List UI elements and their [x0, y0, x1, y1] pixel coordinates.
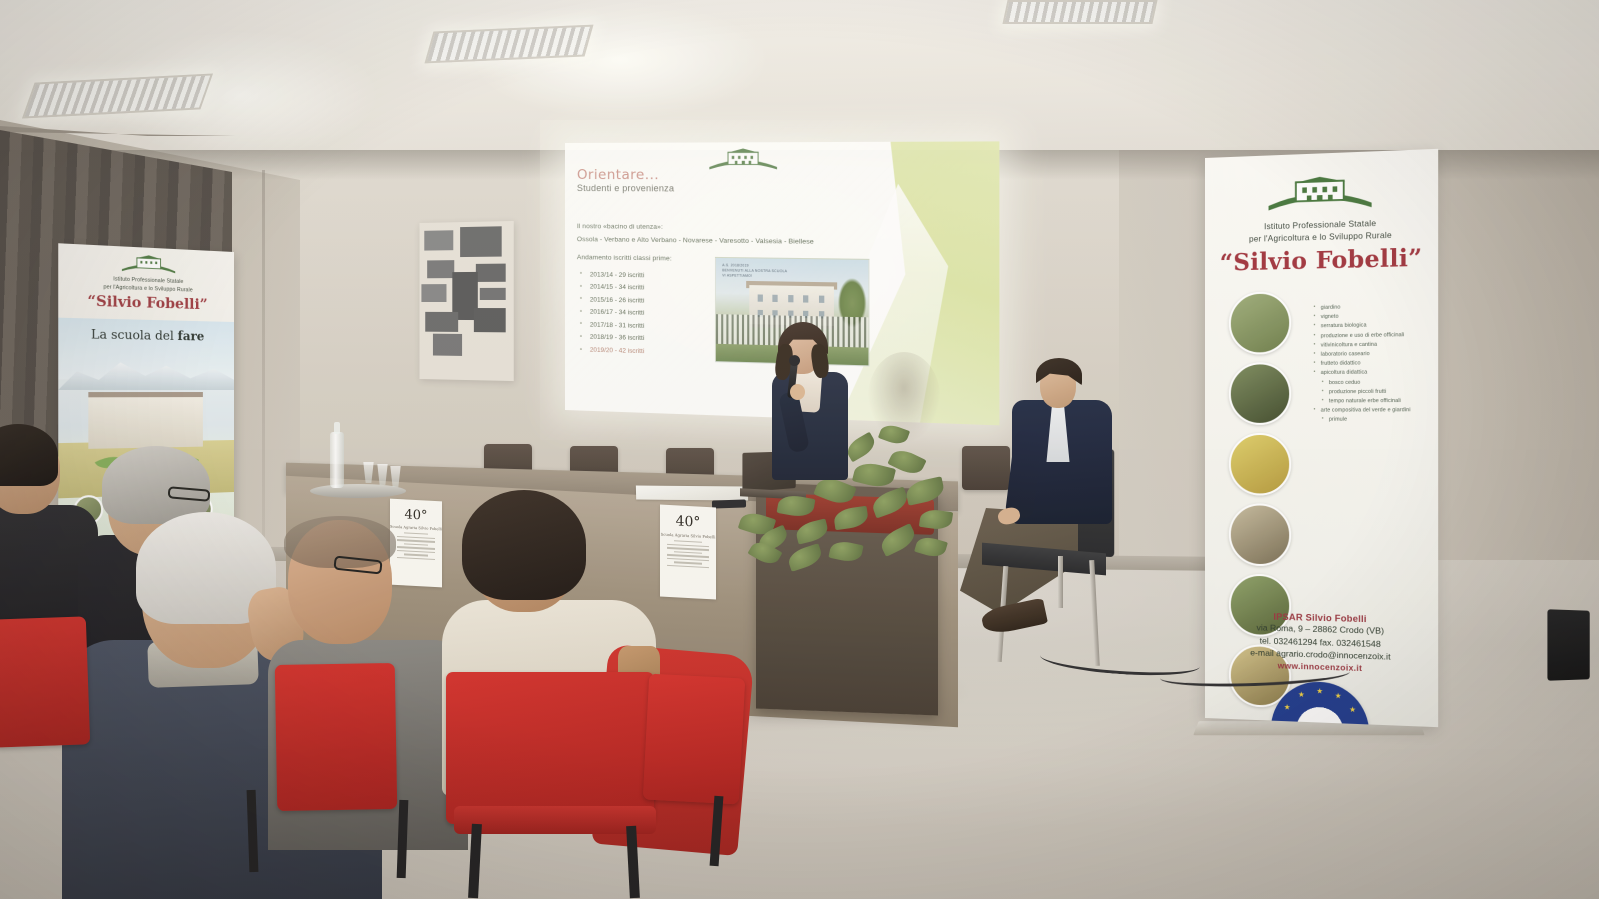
- banner-bullet: tempo naturale erbe officinali: [1314, 397, 1434, 407]
- historical-photo-collage: [419, 221, 513, 381]
- flyer-text-lines: [660, 540, 716, 569]
- water-tray: [310, 484, 406, 498]
- photo-circle-fiori: [1229, 433, 1291, 496]
- photo-circle-orto: [1229, 291, 1291, 354]
- photo-circle-caseario: [1229, 503, 1291, 566]
- conference-room-scene: Orientare... Studenti e provenienza Il n…: [0, 0, 1599, 899]
- recessed-light-panel: [1002, 0, 1157, 24]
- villa-logo-icon: [1265, 174, 1375, 216]
- slide-subtitle: Studenti e provenienza: [577, 183, 674, 193]
- ceiling-light-glow: [470, 0, 770, 120]
- villa-logo-icon: [119, 254, 178, 277]
- banner-bullet: arte compositiva del verde e giardini: [1314, 406, 1434, 416]
- speaker-hand: [790, 384, 805, 400]
- flyer-text-lines: [390, 532, 442, 561]
- chair-back[interactable]: [962, 446, 1010, 490]
- flyer-subtitle: Scuola Agraria Silvio Fobelli: [390, 525, 442, 532]
- anniversary-flyer: 40° Scuola Agraria Silvio Fobelli: [660, 505, 716, 600]
- villa-photo: [88, 392, 203, 449]
- red-chair-back[interactable]: [643, 674, 745, 805]
- audience-5-hair: [462, 490, 586, 600]
- audience-shadow-on-screen: [868, 352, 940, 442]
- lectern-red-cloth: [766, 493, 934, 535]
- red-chair-back[interactable]: [0, 616, 90, 747]
- banner-bullet: primule: [1314, 416, 1434, 426]
- red-chair-back[interactable]: [446, 672, 654, 824]
- phone-on-table[interactable]: [712, 499, 746, 508]
- red-chair-back[interactable]: [275, 663, 398, 811]
- water-bottle[interactable]: [330, 432, 344, 488]
- banner-right-school-name: “Silvio Fobelli”: [1205, 244, 1438, 277]
- banner-left-school-name: “Silvio Fobelli”: [58, 292, 234, 314]
- motto-emphasis: fare: [178, 329, 205, 344]
- flyer-title: 40°: [660, 513, 716, 532]
- wall-corner: [262, 170, 265, 590]
- chair-leg: [1058, 556, 1063, 608]
- flyer-title: 40°: [390, 507, 442, 525]
- photo-circle-vigneto: [1229, 362, 1291, 425]
- villa-logo-icon: [705, 148, 782, 173]
- slide-catchment-line: Ossola - Verbano e Alto Verbano - Novare…: [577, 234, 854, 250]
- rollup-banner-right: Istituto Professionale Statale per l'Agr…: [1205, 149, 1438, 727]
- photo-caption: A.S. 2018/2019 BENVENUTI ALLA NOSTRA SCU…: [722, 263, 787, 279]
- slide-title: Orientare...: [577, 167, 659, 183]
- banner-left-motto: La scuola del fare: [58, 326, 234, 344]
- audio-speaker-box: [1547, 609, 1589, 680]
- motto-prefix: La scuola del: [91, 327, 178, 343]
- photo-caption-line: VI ASPETTIAMO!: [722, 273, 787, 279]
- anniversary-flyer: 40° Scuola Agraria Silvio Fobelli: [390, 499, 442, 588]
- banner-right-bullet-list: giardino vigneto serratura biologica pro…: [1314, 302, 1434, 426]
- flyer-subtitle: Scuola Agraria Silvio Fobelli: [660, 532, 716, 540]
- papers-on-table[interactable]: [636, 486, 748, 501]
